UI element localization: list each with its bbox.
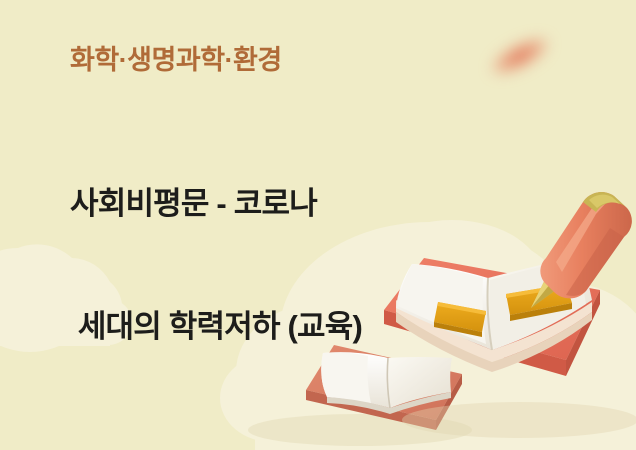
highlight-mark-right-icon xyxy=(506,284,572,321)
large-open-book-icon xyxy=(384,256,636,438)
article-thumbnail-card: 화학·생명과학·환경 사회비평문 - 코로나 세대의 학력저하 (교육) xyxy=(0,0,636,450)
highlighter-pen-icon xyxy=(531,192,632,308)
highlight-mark-left-icon xyxy=(434,302,486,337)
category-label: 화학·생명과학·환경 xyxy=(70,45,362,76)
title-line-1: 사회비평문 - 코로나 xyxy=(70,184,362,225)
headline-block: 화학·생명과학·환경 사회비평문 - 코로나 세대의 학력저하 (교육) xyxy=(70,45,362,429)
title-line-2: 세대의 학력저하 (교육) xyxy=(70,307,362,348)
pen-motion-streak-icon xyxy=(484,29,556,84)
page-title: 사회비평문 - 코로나 세대의 학력저하 (교육) xyxy=(70,102,362,429)
